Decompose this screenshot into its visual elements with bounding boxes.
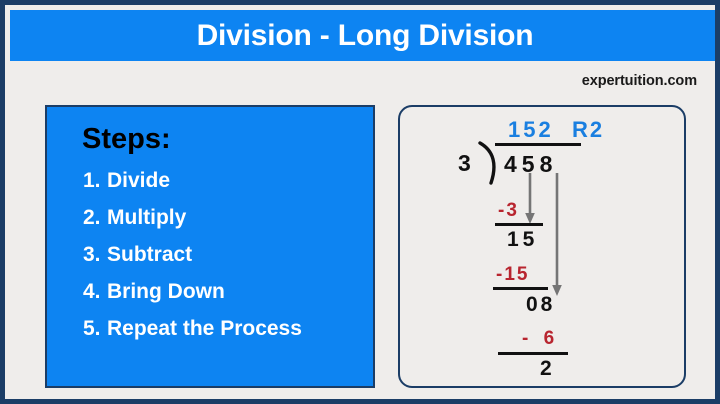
divisor-value: 3 bbox=[458, 152, 471, 175]
quotient-value: 152 bbox=[508, 119, 554, 141]
page-title: Division - Long Division bbox=[197, 21, 534, 51]
step3-rule bbox=[498, 352, 568, 355]
quotient-remainder: R2 bbox=[572, 119, 604, 141]
division-bracket-icon bbox=[478, 141, 500, 185]
list-item: 4. Bring Down bbox=[83, 281, 373, 302]
steps-panel: Steps: 1. Divide 2. Multiply 3. Subtract… bbox=[45, 105, 375, 388]
step-number: 1. bbox=[83, 170, 107, 191]
step1-subtrahend: -3 bbox=[498, 201, 519, 220]
list-item: 1. Divide bbox=[83, 170, 373, 191]
step-label: Repeat the Process bbox=[107, 318, 302, 339]
step3-subtrahend: - 6 bbox=[522, 329, 559, 348]
step-label: Multiply bbox=[107, 207, 186, 228]
step2-result: 08 bbox=[526, 294, 555, 315]
step-number: 3. bbox=[83, 244, 107, 265]
list-item: 5. Repeat the Process bbox=[83, 318, 373, 339]
step3-remainder: 2 bbox=[540, 358, 552, 379]
slide-root: Division - Long Division expertuition.co… bbox=[0, 0, 720, 404]
step2-rule bbox=[493, 287, 548, 290]
step-number: 5. bbox=[83, 318, 107, 339]
step-label: Subtract bbox=[107, 244, 192, 265]
steps-list: 1. Divide 2. Multiply 3. Subtract 4. Bri… bbox=[47, 170, 373, 339]
division-vinculum bbox=[495, 143, 581, 146]
list-item: 2. Multiply bbox=[83, 207, 373, 228]
step1-result: 15 bbox=[507, 229, 538, 250]
step-number: 4. bbox=[83, 281, 107, 302]
step-number: 2. bbox=[83, 207, 107, 228]
step1-rule bbox=[495, 223, 543, 226]
bring-down-arrow-icon bbox=[551, 173, 563, 297]
header-bar: Division - Long Division bbox=[10, 10, 720, 61]
steps-heading: Steps: bbox=[82, 125, 373, 154]
step-label: Divide bbox=[107, 170, 170, 191]
step-label: Bring Down bbox=[107, 281, 225, 302]
list-item: 3. Subtract bbox=[83, 244, 373, 265]
step2-subtrahend: -15 bbox=[496, 265, 529, 284]
long-division-work: 152 R2 3 458 -3 15 -15 bbox=[400, 107, 684, 386]
bring-down-arrow-icon bbox=[524, 173, 536, 225]
long-division-panel: 152 R2 3 458 -3 15 -15 bbox=[398, 105, 686, 388]
brand-watermark: expertuition.com bbox=[582, 73, 697, 89]
